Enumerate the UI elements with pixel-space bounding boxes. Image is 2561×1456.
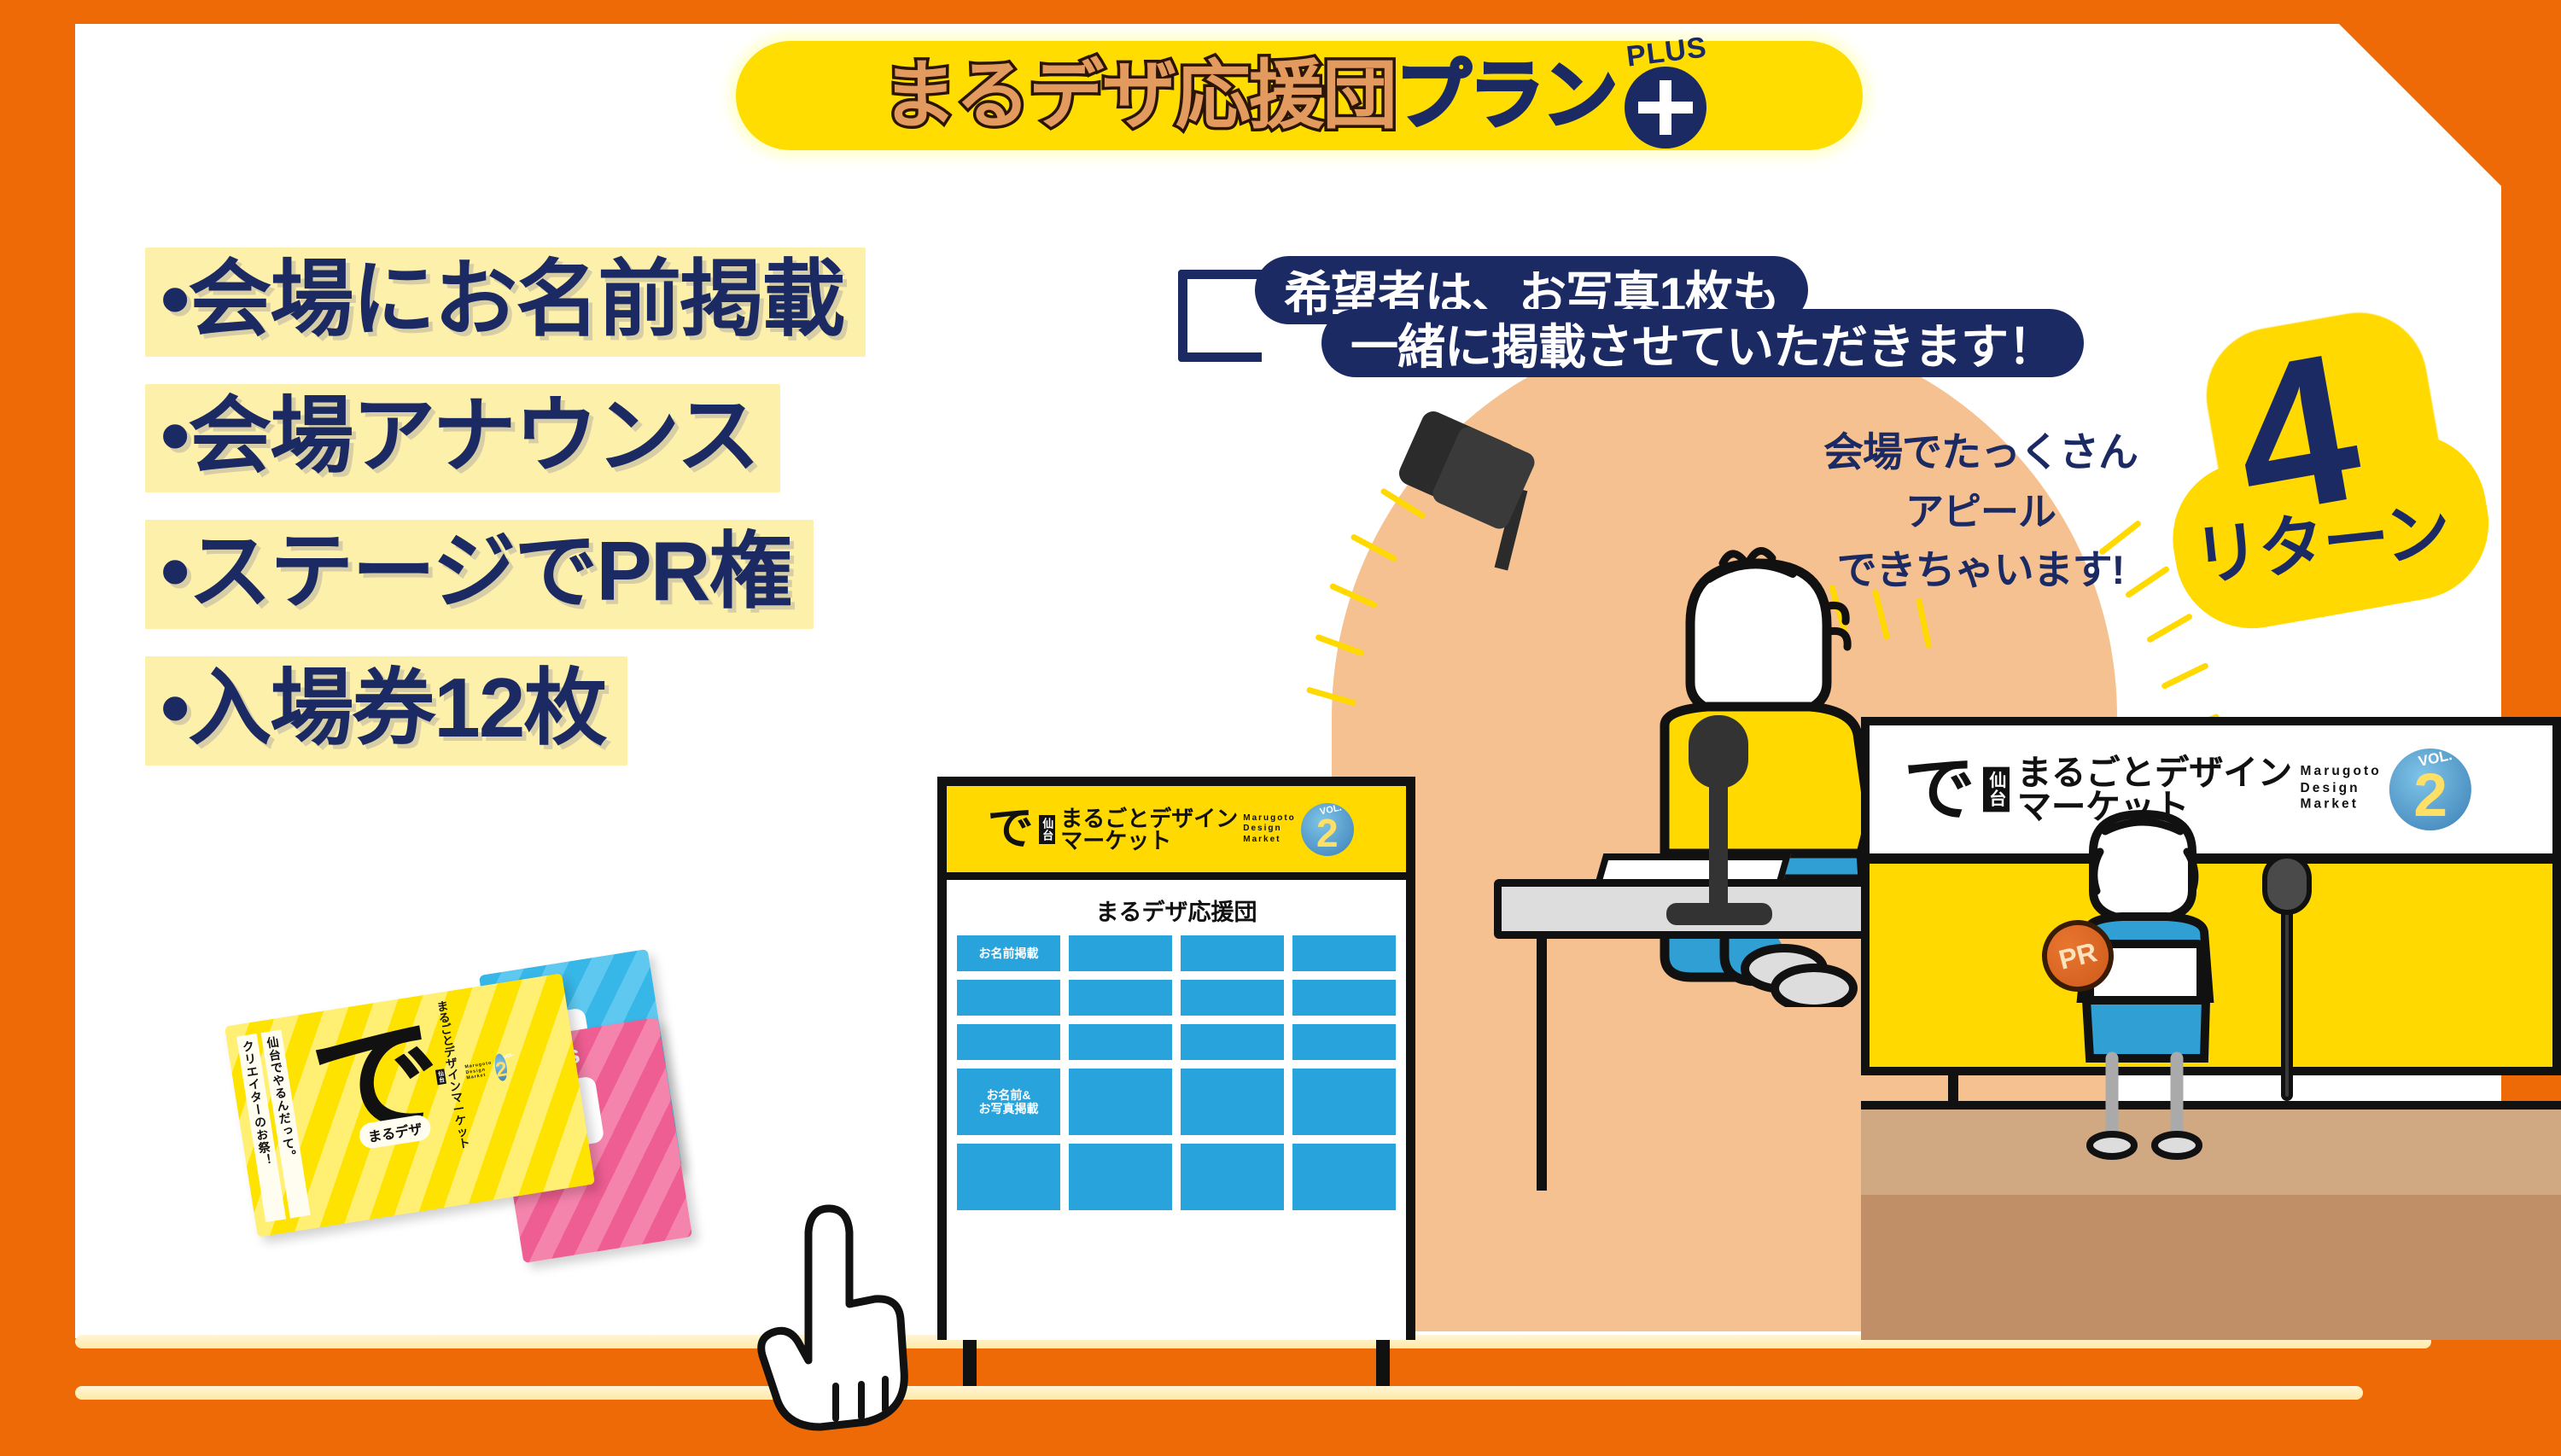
table-leg (1537, 935, 1547, 1191)
board-cell (1292, 1144, 1396, 1210)
feature-label: •会場にお名前掲載 (160, 251, 843, 348)
logo-en-line-2: Design (2300, 781, 2360, 795)
board-cell (1069, 935, 1172, 971)
poster-canvas: まるデザ応援団プラン PLUS •会場にお名前掲載 •会場アナウンス •ステージ… (0, 0, 2561, 1456)
board-cell (1292, 1024, 1396, 1060)
logo-en-line-3: Market (1243, 835, 1280, 844)
sponsor-name-board: で 仙台 まるごとデザイン マーケット Marugoto Design Mark… (937, 777, 1415, 1340)
board-legs (937, 1340, 1415, 1386)
title-banner: まるデザ応援団プラン PLUS (736, 41, 1863, 150)
return-count-badge: 4 リターン (2138, 287, 2561, 720)
board-cell (1069, 980, 1172, 1016)
board-cell (957, 1024, 1060, 1060)
logo-jp-line-1: まるごとデザイン (2017, 755, 2292, 789)
volume-number: 2 (494, 1058, 509, 1080)
microphone-base (1666, 903, 1772, 925)
volume-badge: VOL. 2 (493, 1053, 509, 1082)
list-item: •ステージでPR権 (145, 520, 814, 629)
logo-sendai-tag: 仙台 (1039, 815, 1056, 844)
logo-en-line-3: Market (2300, 798, 2359, 812)
volume-tag: VOL. (1319, 802, 1343, 817)
plus-label: PLUS (1625, 32, 1708, 71)
photo-callout: 希望者は、お写真1枚も 一緒に掲載させていただきます！ (1178, 256, 2134, 384)
pointing-hand-icon (747, 1203, 926, 1434)
logo-sendai-tag: 仙台 (435, 1069, 446, 1085)
logo-english: Marugoto Design Market (2300, 765, 2381, 814)
list-item: •会場アナウンス (145, 384, 780, 493)
board-cell (1181, 935, 1284, 971)
board-cell-grid: お名前掲載お名前&お写真掲載 (947, 935, 1406, 1210)
board-cell (1292, 935, 1396, 971)
logo-jp-line-1: まるごとデザイン (1060, 807, 1238, 830)
board-cell: お名前&お写真掲載 (957, 1069, 1060, 1135)
title-segment-orange: まるデザ応援団 (882, 58, 1396, 133)
logo-sendai-tag: 仙台 (1983, 767, 2009, 812)
plus-icon (1625, 67, 1706, 149)
board-leg (963, 1340, 977, 1386)
board-cell (1181, 980, 1284, 1016)
volume-tag: VOL. (503, 1051, 516, 1061)
feature-list: •会場にお名前掲載 •会場アナウンス •ステージでPR権 •入場券12枚 (145, 248, 1067, 793)
feature-label: •入場券12枚 (160, 660, 605, 757)
board-header: で 仙台 まるごとデザイン マーケット Marugoto Design Mark… (947, 786, 1406, 880)
logo-mark: で (988, 808, 1034, 850)
callout-row: 一緒に掲載させていただきます！ (1321, 309, 2084, 377)
volume-tag: VOL. (2418, 748, 2454, 770)
callout-line-2: 一緒に掲載させていただきます！ (1351, 309, 2055, 378)
board-cell (1069, 1144, 1172, 1210)
board-cell (957, 1144, 1060, 1210)
logo-jp-line-2: マーケット (1060, 830, 1238, 852)
volume-number: 2 (2413, 765, 2447, 825)
board-cell (1181, 1144, 1284, 1210)
volume-number: 2 (1316, 813, 1339, 853)
board-cell (1069, 1069, 1172, 1135)
board-cell (1181, 1069, 1284, 1135)
feature-label: •会場アナウンス (160, 387, 758, 485)
board-cell (1069, 1024, 1172, 1060)
plus-badge: PLUS (1621, 44, 1717, 147)
frame-line-2 (75, 1386, 2363, 1400)
logo-japanese: まるごとデザイン マーケット (1060, 807, 1238, 852)
logo-en-line-1: Marugoto (2300, 765, 2381, 779)
stage-front-panel (1861, 1195, 2561, 1340)
title-segment-navy: プラン (1396, 58, 1616, 133)
logo-jp-line-2: マーケット (451, 1091, 475, 1150)
logo-english: Marugoto Design Market (1243, 813, 1296, 846)
logo-en-line-1: Marugoto (1243, 813, 1296, 823)
board-cell (1292, 1069, 1396, 1135)
board-leg (1376, 1340, 1390, 1386)
feature-label: •ステージでPR権 (160, 523, 791, 620)
stage-microphone-icon (2262, 853, 2312, 915)
list-item: •会場にお名前掲載 (145, 248, 866, 357)
title-text: まるデザ応援団プラン PLUS (882, 44, 1717, 147)
microphone-icon (1689, 715, 1748, 789)
event-logo: で 仙台 まるごとデザイン マーケット Marugoto Design Mark… (988, 803, 1366, 856)
stage-mic-pole (2281, 888, 2293, 1101)
board-cell: お名前掲載 (957, 935, 1060, 971)
logo-english: Marugoto Design Market (464, 1061, 494, 1081)
appeal-line-1: 会場でたっくさん (1776, 422, 2185, 483)
callout-leader-line (1178, 270, 1262, 362)
board-cell (957, 980, 1060, 1016)
ticket-stack: 1day 2days クリエイターのお祭！ 仙台でやるんだって。 で まるデザ … (239, 956, 785, 1331)
volume-badge: VOL. 2 (1301, 803, 1354, 856)
volume-badge: VOL. 2 (2389, 748, 2471, 830)
logo-en-line-2: Design (1243, 824, 1281, 833)
list-item: •入場券12枚 (145, 656, 627, 766)
board-cell (1292, 980, 1396, 1016)
board-cell (1181, 1024, 1284, 1060)
board-subtitle: まるデザ応援団 (947, 880, 1406, 935)
logo-mark: で (1904, 757, 1975, 821)
